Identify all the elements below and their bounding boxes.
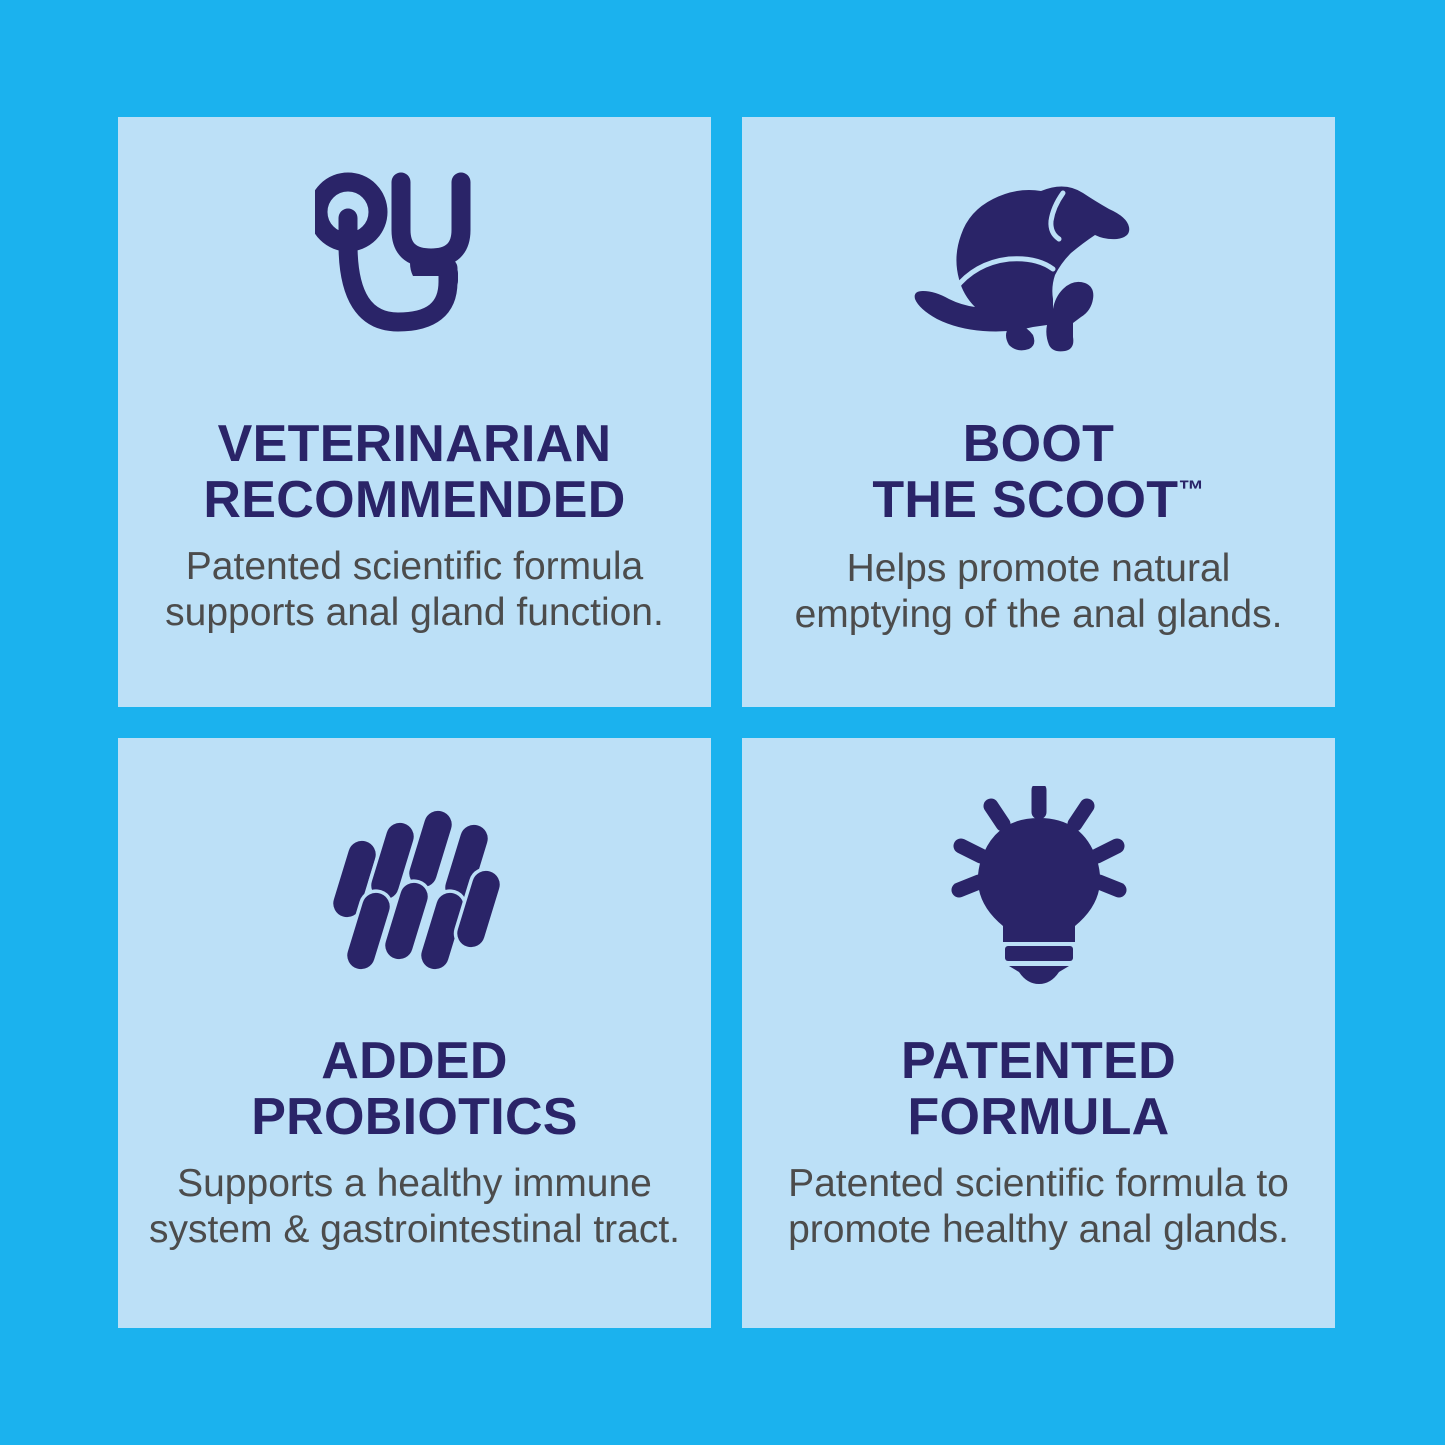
trademark-symbol: ™: [1178, 474, 1204, 504]
benefit-description: Patented scientific formula to promote h…: [788, 1161, 1289, 1252]
benefit-card-added-probiotics: ADDED PROBIOTICS Supports a healthy immu…: [118, 738, 711, 1328]
benefit-title: BOOT THE SCOOT™: [872, 417, 1204, 528]
probiotic-bacteria-icon: [136, 738, 693, 1034]
lightbulb-icon: [760, 738, 1317, 1034]
benefit-title: ADDED PROBIOTICS: [251, 1034, 578, 1145]
stethoscope-icon: [136, 117, 693, 417]
benefit-card-boot-the-scoot: BOOT THE SCOOT™ Helps promote natural em…: [742, 117, 1335, 707]
benefit-title: VETERINARIAN RECOMMENDED: [203, 417, 625, 528]
benefits-grid: VETERINARIAN RECOMMENDED Patented scient…: [118, 117, 1335, 1328]
benefit-title-text: BOOT THE SCOOT: [872, 415, 1178, 529]
benefit-title: PATENTED FORMULA: [901, 1034, 1176, 1145]
benefit-card-veterinarian-recommended: VETERINARIAN RECOMMENDED Patented scient…: [118, 117, 711, 707]
benefit-description: Supports a healthy immune system & gastr…: [149, 1161, 680, 1252]
benefit-card-patented-formula: PATENTED FORMULA Patented scientific for…: [742, 738, 1335, 1328]
scooting-dog-icon: [760, 117, 1317, 417]
benefit-description: Patented scientific formula supports ana…: [165, 544, 664, 635]
benefit-description: Helps promote natural emptying of the an…: [795, 546, 1283, 637]
